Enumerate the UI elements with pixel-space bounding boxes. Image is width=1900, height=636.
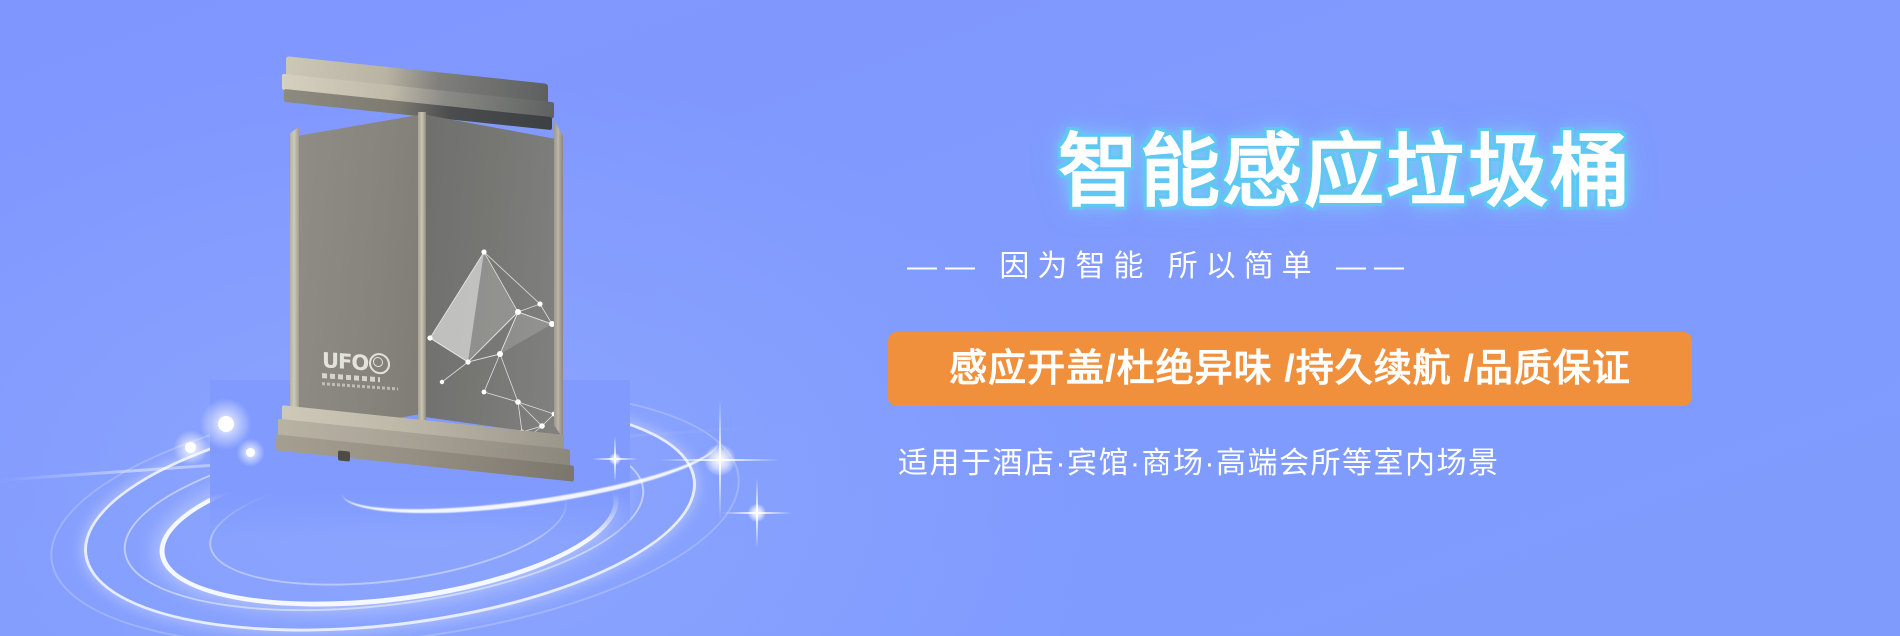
brand-logo: UFO	[322, 349, 404, 405]
banner-tagline: 适用于酒店·宾馆·商场·高端会所等室内场景	[898, 444, 1499, 484]
body-edge-center	[418, 112, 426, 438]
banner-copy: 智能感应垃圾桶 —— 因为智能 所以简单 —— 感应开盖/杜绝异味 /持久续航 …	[890, 0, 1900, 636]
feature-badge: 感应开盖/杜绝异味 /持久续航 /品质保证	[888, 332, 1692, 406]
banner-headline: 智能感应垃圾桶	[1058, 130, 1632, 214]
feature-badge-text: 感应开盖/杜绝异味 /持久续航 /品质保证	[949, 347, 1631, 391]
body-edge-right	[554, 120, 563, 438]
brand-logo-subtext-2	[322, 382, 398, 390]
promo-banner: UFO 智能感应垃圾桶 —— 因为智能 所以简单 —— 感应开盖/杜绝异味 /持…	[0, 0, 1900, 636]
glow-dot-1	[218, 416, 234, 432]
body-edge-left	[290, 114, 299, 434]
base-sensor-slot	[338, 450, 350, 461]
product-stage: UFO	[0, 0, 860, 636]
network-graphic	[422, 242, 564, 438]
product-trash-can: UFO	[276, 62, 576, 462]
glow-dot-3	[246, 448, 255, 457]
glow-dot-2	[185, 442, 196, 453]
brand-logo-ring-icon	[369, 352, 390, 374]
banner-subline: —— 因为智能 所以简单 ——	[907, 248, 1412, 286]
brand-logo-text: UFO	[322, 348, 368, 375]
